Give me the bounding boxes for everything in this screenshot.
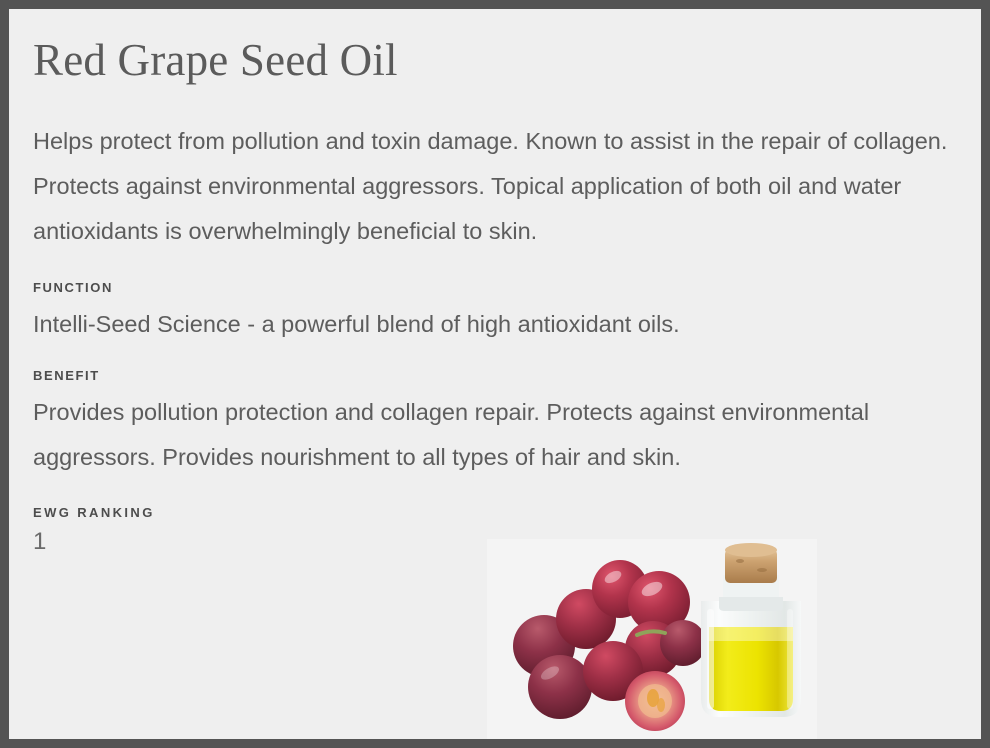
section-benefit: BENEFIT Provides pollution protection an… xyxy=(33,368,963,480)
section-label-benefit: BENEFIT xyxy=(33,368,963,383)
section-label-ewg-ranking: EWG RANKING xyxy=(33,505,963,520)
red-grapes-and-oil-jar-photo xyxy=(487,539,817,739)
section-body-function: Intelli-Seed Science - a powerful blend … xyxy=(33,302,963,347)
intro-paragraph: Helps protect from pollution and toxin d… xyxy=(33,119,963,254)
section-ewg-ranking: EWG RANKING 1 xyxy=(33,505,963,557)
card-content: Red Grape Seed Oil Helps protect from po… xyxy=(9,9,981,557)
section-body-benefit: Provides pollution protection and collag… xyxy=(33,390,963,480)
section-function: FUNCTION Intelli-Seed Science - a powerf… xyxy=(33,280,963,347)
page-title: Red Grape Seed Oil xyxy=(33,37,963,85)
ingredient-info-card: Red Grape Seed Oil Helps protect from po… xyxy=(0,0,990,748)
ewg-ranking-value: 1 xyxy=(33,527,963,557)
section-label-function: FUNCTION xyxy=(33,280,963,295)
